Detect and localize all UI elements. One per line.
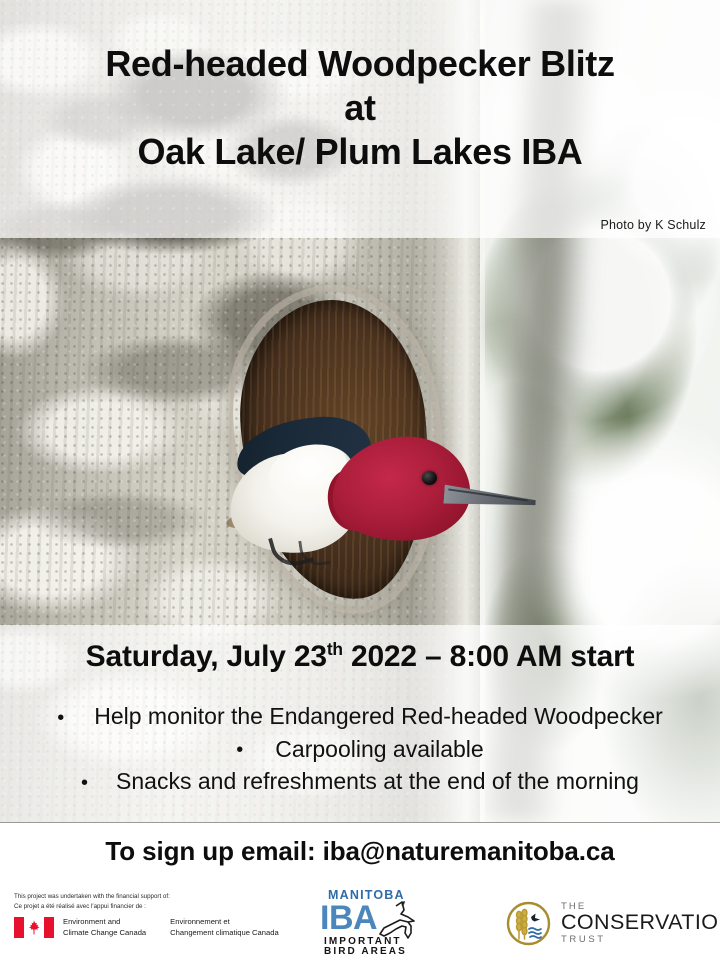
eccc-name-en-line1: Environment and (63, 917, 120, 926)
funding-note-fr: Ce projet a été réalisé avec l'appui fin… (14, 902, 286, 912)
eccc-name-fr-line1: Environnement et (170, 917, 230, 926)
date-ordinal-suffix: th (327, 639, 343, 659)
date-suffix: 2022 – 8:00 AM start (343, 640, 635, 673)
photo-credit: Photo by K Schulz (600, 218, 706, 232)
event-details-list: •Help monitor the Endangered Red-headed … (0, 700, 720, 798)
signup-email-line[interactable]: To sign up email: iba@naturemanitoba.ca (0, 836, 720, 867)
list-item: •Snacks and refreshments at the end of t… (0, 765, 720, 798)
iba-logo-sub2: BIRD AREAS (324, 946, 407, 956)
ct-label-conservation: CONSERVATION (561, 912, 720, 934)
sponsor-footer: This project was undertaken with the fin… (0, 884, 720, 960)
woodpecker-eye (422, 471, 437, 485)
list-item: •Help monitor the Endangered Red-headed … (0, 700, 720, 733)
conservation-trust-logo: THE CONSERVATION TRUST (506, 898, 711, 948)
poster: Red-headed Woodpecker Blitz at Oak Lake/… (0, 0, 720, 960)
list-item-label: Snacks and refreshments at the end of th… (116, 768, 639, 794)
list-item-label: Carpooling available (275, 736, 483, 762)
eccc-name-fr-line2: Changement climatique Canada (170, 928, 279, 937)
event-date-line: Saturday, July 23th 2022 – 8:00 AM start (0, 640, 720, 674)
canada-flag-icon (14, 917, 54, 938)
title-line-2: at (0, 86, 720, 130)
poster-title: Red-headed Woodpecker Blitz at Oak Lake/… (0, 42, 720, 174)
eccc-name-en-line2: Climate Change Canada (63, 928, 146, 937)
bullet-icon: • (81, 769, 88, 797)
date-prefix: Saturday, July 23 (86, 640, 327, 673)
eccc-name-fr: Environnement et Changement climatique C… (170, 916, 279, 938)
bullet-icon: • (57, 704, 64, 732)
eccc-logo-block: This project was undertaken with the fin… (14, 892, 286, 938)
eccc-name-en: Environment and Climate Change Canada (63, 916, 146, 938)
title-line-3: Oak Lake/ Plum Lakes IBA (0, 130, 720, 174)
funding-note-en: This project was undertaken with the fin… (14, 892, 286, 902)
list-item: •Carpooling available (0, 733, 720, 766)
ct-label-trust: TRUST (561, 935, 720, 945)
bullet-icon: • (236, 736, 243, 764)
iba-logo-acronym: IBA (320, 899, 377, 937)
manitoba-iba-logo: MANITOBA IBA IMPORTANT BIRD AREAS (318, 886, 436, 956)
pelican-icon (380, 901, 414, 938)
title-line-1: Red-headed Woodpecker Blitz (0, 42, 720, 86)
list-item-label: Help monitor the Endangered Red-headed W… (94, 703, 663, 729)
red-headed-woodpecker (236, 415, 486, 600)
conservation-trust-emblem-icon (506, 901, 551, 946)
